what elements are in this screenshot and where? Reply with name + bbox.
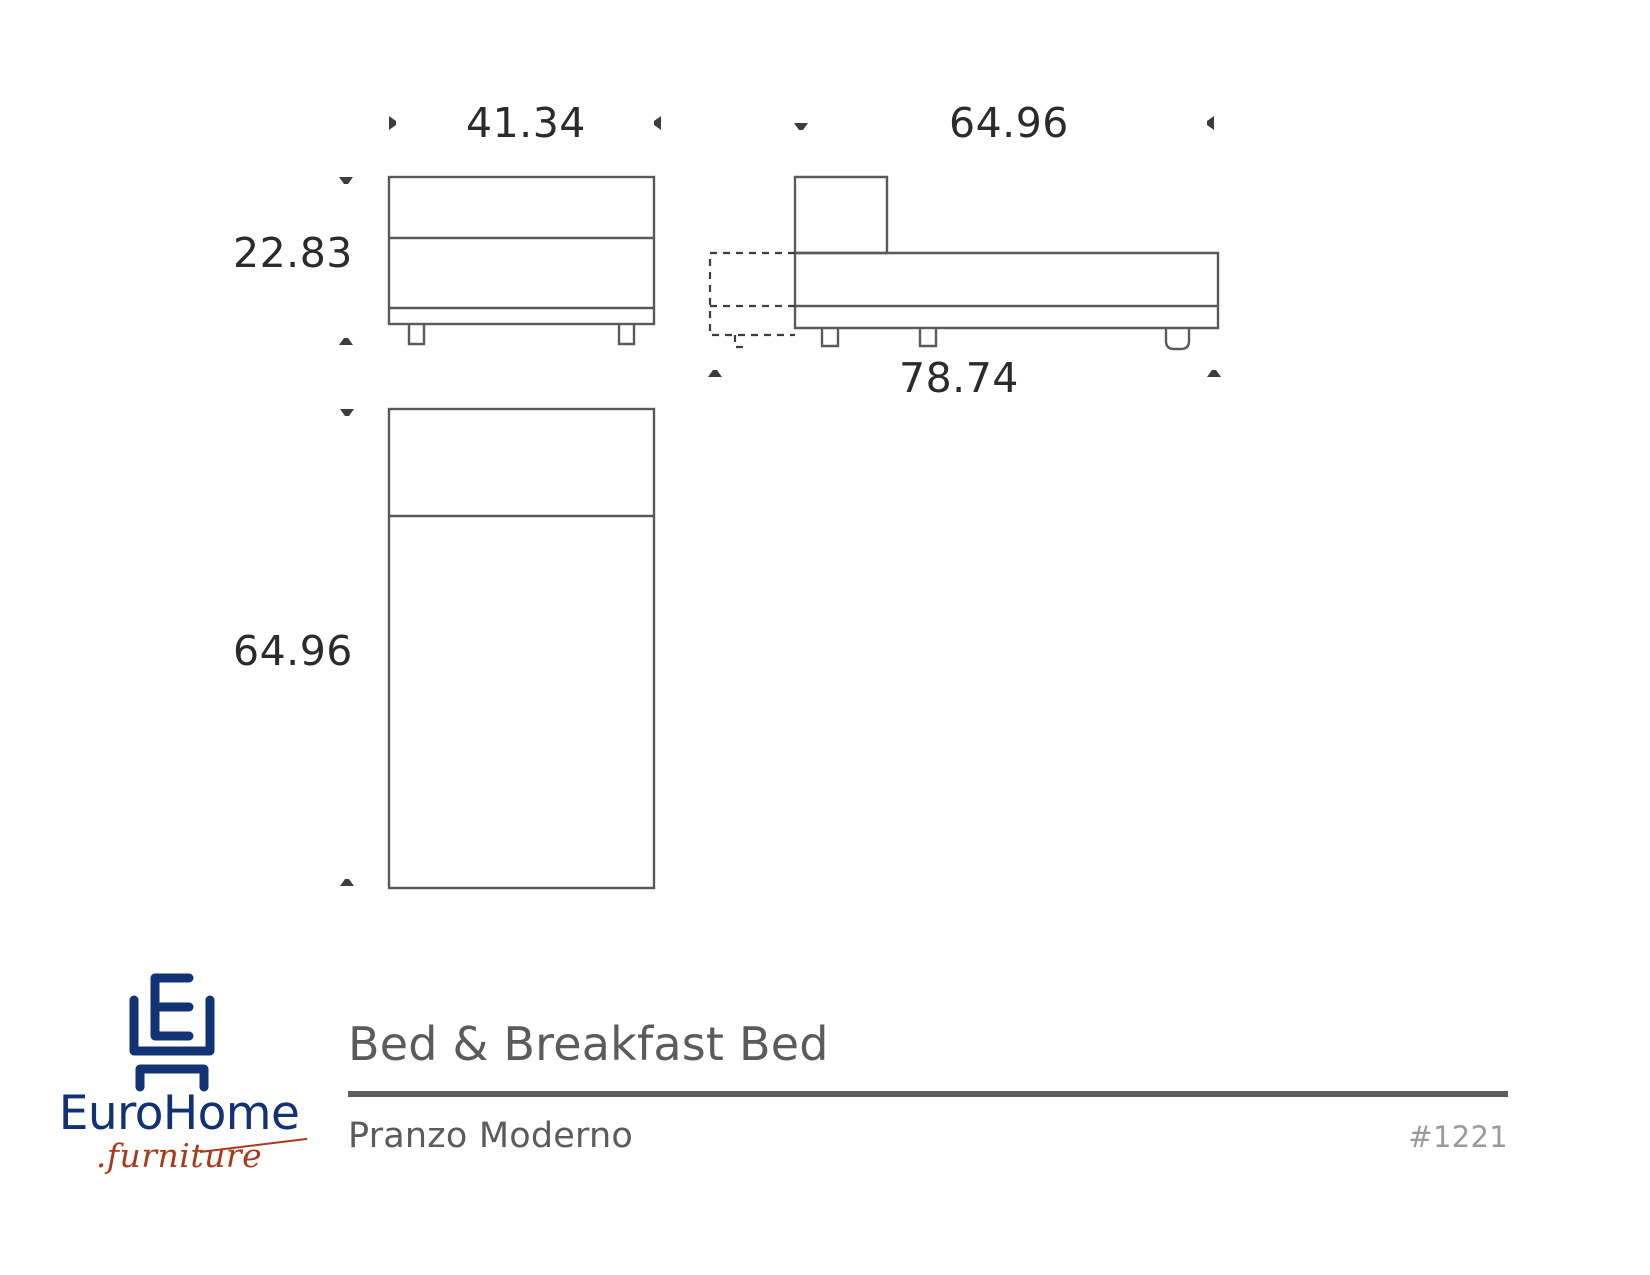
front-elevation-view: [389, 177, 654, 344]
side-leg-2: [920, 328, 936, 346]
plan-body-outline: [389, 409, 654, 888]
dimension-label-side-length: 78.74: [899, 354, 1019, 402]
side-headboard: [795, 177, 887, 253]
side-elevation-view: [795, 177, 1218, 349]
side-dashed-extension: [710, 253, 795, 347]
side-dashed-outline: [710, 253, 795, 335]
dimension-label-plan-depth: 64.96: [233, 627, 353, 675]
title-block: Bed & Breakfast Bed Pranzo Moderno #1221: [348, 940, 1508, 1156]
brand-wordmark: EuroHome: [48, 1086, 310, 1141]
side-leg-1: [822, 328, 838, 346]
plan-view: [389, 409, 654, 888]
dimension-label-front-height: 22.83: [233, 229, 353, 277]
eurohome-chair-e-mark-icon: [118, 968, 240, 1094]
front-leg-right: [619, 324, 634, 344]
technical-drawing-svg: [0, 0, 1650, 940]
spec-sheet: 41.34 22.83 64.96 78.74 64.96 EuroHome .…: [0, 0, 1650, 1275]
brand-logo: EuroHome .furniture: [48, 958, 310, 1188]
product-collection: Pranzo Moderno: [348, 1116, 633, 1156]
side-dimension-markers: [708, 116, 1221, 377]
title-divider: [348, 1091, 1508, 1097]
front-leg-left: [409, 324, 424, 344]
sheet-footer: EuroHome .furniture Bed & Breakfast Bed …: [0, 940, 1650, 1275]
side-leg-3: [1166, 328, 1189, 349]
technical-drawing-area: 41.34 22.83 64.96 78.74 64.96: [0, 0, 1650, 940]
dimension-label-side-width: 64.96: [949, 99, 1069, 147]
subtitle-row: Pranzo Moderno #1221: [348, 1116, 1508, 1156]
product-title: Bed & Breakfast Bed: [348, 940, 1508, 1067]
side-body-outline: [795, 253, 1218, 328]
product-code: #1221: [1408, 1120, 1508, 1154]
dimension-label-front-width: 41.34: [466, 99, 586, 147]
side-dashed-leg: [735, 335, 748, 347]
front-body-outline: [389, 177, 654, 324]
front-dimension-markers: [339, 116, 661, 345]
